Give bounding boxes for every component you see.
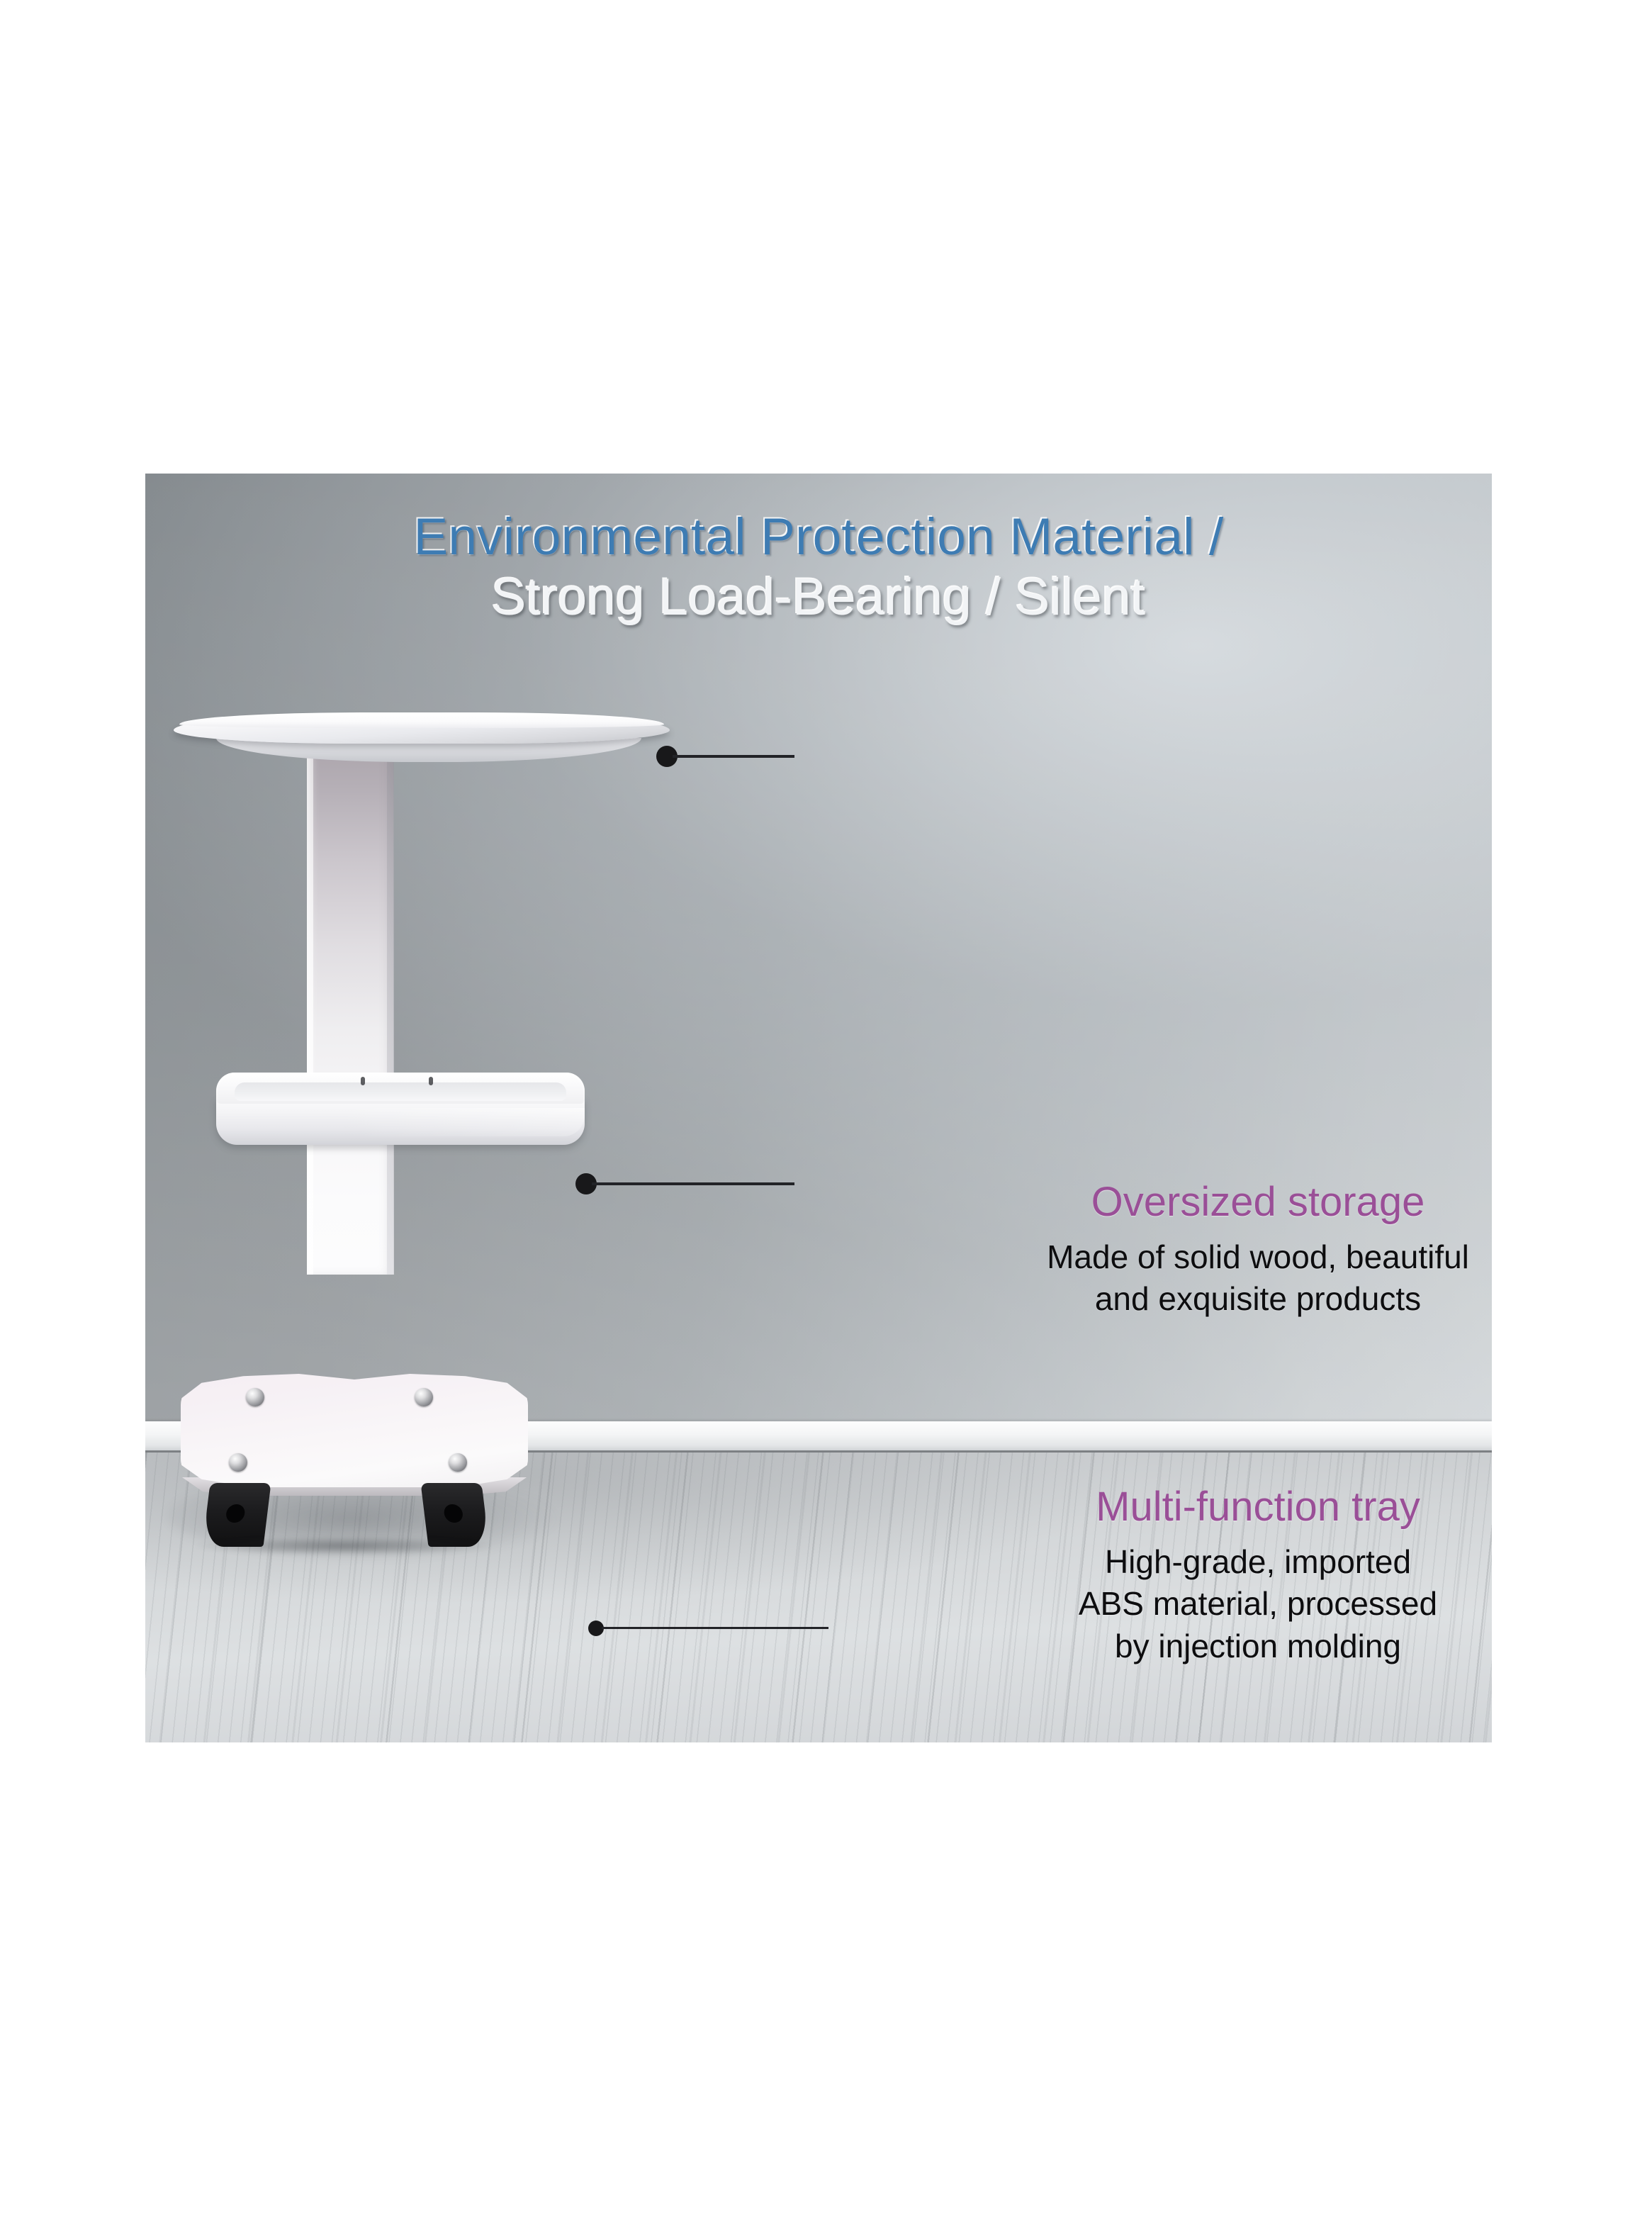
- caster-wheel-hub: [443, 1504, 463, 1523]
- middle-tray: [216, 1073, 585, 1151]
- top-shelf-surface: [179, 712, 664, 728]
- callout-heading: Multi-function tray: [939, 1484, 1492, 1531]
- base-screw-cap: [415, 1388, 433, 1406]
- tray-screw-hole: [361, 1077, 365, 1085]
- wheel-contact-shadow: [195, 1537, 493, 1555]
- base-screw-cap: [246, 1388, 264, 1406]
- base-screw-cap: [449, 1453, 467, 1472]
- callout-body-line: by injection molding: [939, 1625, 1492, 1668]
- callout-multi-function-tray: Multi-function tray High-grade, imported…: [939, 1484, 1492, 1668]
- caster-wheel-left: [202, 1483, 271, 1547]
- callout-body: Made of solid wood, beautiful and exquis…: [939, 1236, 1492, 1321]
- leader-line-stroke: [673, 755, 794, 758]
- caster-wheel-hub: [225, 1504, 246, 1523]
- caster-wheel-right: [420, 1483, 489, 1547]
- page-root: Environmental Protection Material / Stro…: [0, 0, 1652, 2233]
- support-column: [307, 743, 393, 1275]
- base-screw-cap: [229, 1453, 247, 1472]
- top-shelf: [174, 710, 670, 756]
- callout-body-line: and exquisite products: [939, 1278, 1492, 1321]
- column-left-highlight: [307, 743, 313, 1275]
- product-infographic-photo: Environmental Protection Material / Stro…: [145, 474, 1492, 1742]
- tray-screw-hole: [429, 1077, 433, 1085]
- leader-line-stroke: [592, 1182, 794, 1185]
- callout-heading: Oversized storage: [939, 1179, 1492, 1226]
- callout-oversized-storage: Oversized storage Made of solid wood, be…: [939, 1179, 1492, 1321]
- callout-body-line: ABS material, processed: [939, 1583, 1492, 1625]
- middle-tray-basin: [235, 1082, 566, 1101]
- callout-body-line: Made of solid wood, beautiful: [939, 1236, 1492, 1279]
- column-right-shade: [387, 743, 394, 1275]
- middle-tray-front: [216, 1098, 585, 1145]
- callout-body-line: High-grade, imported: [939, 1541, 1492, 1584]
- callout-body: High-grade, imported ABS material, proce…: [939, 1541, 1492, 1668]
- leader-line-stroke: [602, 1627, 828, 1629]
